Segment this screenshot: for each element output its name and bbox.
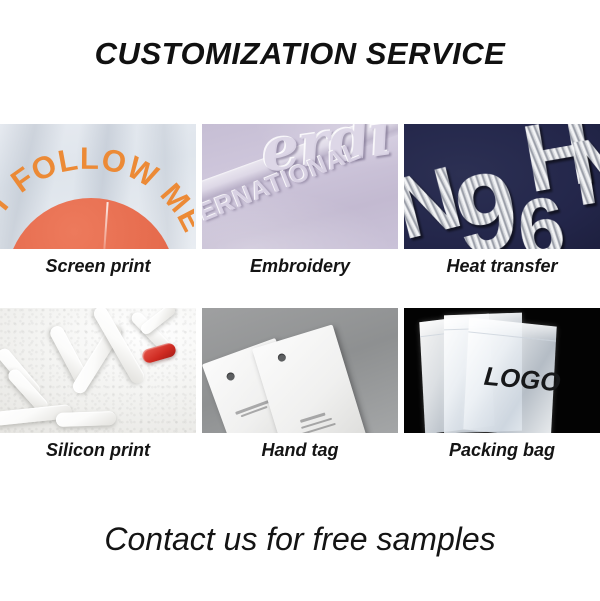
service-card-packing-bag[interactable]: LOGO Packing bag: [404, 308, 600, 461]
customization-service-banner: CUSTOMIZATION SERVICE N'T FOLLOW ME: [0, 0, 600, 601]
service-card-hand-tag[interactable]: Hand tag: [202, 308, 398, 461]
silicone-stroke: [56, 411, 116, 427]
punch-hole: [226, 371, 236, 381]
service-grid-row: N'T FOLLOW ME Screen print erdi ERNATION…: [0, 124, 600, 277]
service-card-label: Hand tag: [202, 440, 398, 461]
service-grid-row: Silicon print Han: [0, 308, 600, 461]
service-card-embroidery[interactable]: erdi ERNATIONAL Embroidery: [202, 124, 398, 277]
service-card-label: Screen print: [0, 256, 196, 277]
bag-flap: [468, 317, 556, 341]
service-card-label: Embroidery: [202, 256, 398, 277]
service-card-screen-print[interactable]: N'T FOLLOW ME Screen print: [0, 124, 196, 277]
hand-tag-thumbnail[interactable]: [202, 308, 398, 433]
silicon-print-thumbnail[interactable]: [0, 308, 196, 433]
service-card-heat-transfer[interactable]: H N N 9 6 Heat transfer: [404, 124, 600, 277]
bag-printed-logo-text: LOGO: [483, 361, 562, 399]
screen-print-thumbnail[interactable]: N'T FOLLOW ME: [0, 124, 196, 249]
packing-bag-thumbnail[interactable]: LOGO: [404, 308, 600, 433]
service-card-label: Heat transfer: [404, 256, 600, 277]
contact-cta-text: Contact us for free samples: [0, 521, 600, 558]
transfer-letter: 9: [448, 147, 524, 249]
service-grid: N'T FOLLOW ME Screen print erdi ERNATION…: [0, 124, 600, 461]
arc-print-text: N'T FOLLOW ME: [0, 144, 194, 249]
svg-text:N'T FOLLOW ME: N'T FOLLOW ME: [0, 144, 194, 248]
punch-hole: [277, 353, 287, 363]
service-card-label: Silicon print: [0, 440, 196, 461]
heat-transfer-thumbnail[interactable]: H N N 9 6: [404, 124, 600, 249]
embroidery-thumbnail[interactable]: erdi ERNATIONAL: [202, 124, 398, 249]
service-card-label: Packing bag: [404, 440, 600, 461]
page-title: CUSTOMIZATION SERVICE: [0, 36, 600, 72]
service-card-silicon-print[interactable]: Silicon print: [0, 308, 196, 461]
